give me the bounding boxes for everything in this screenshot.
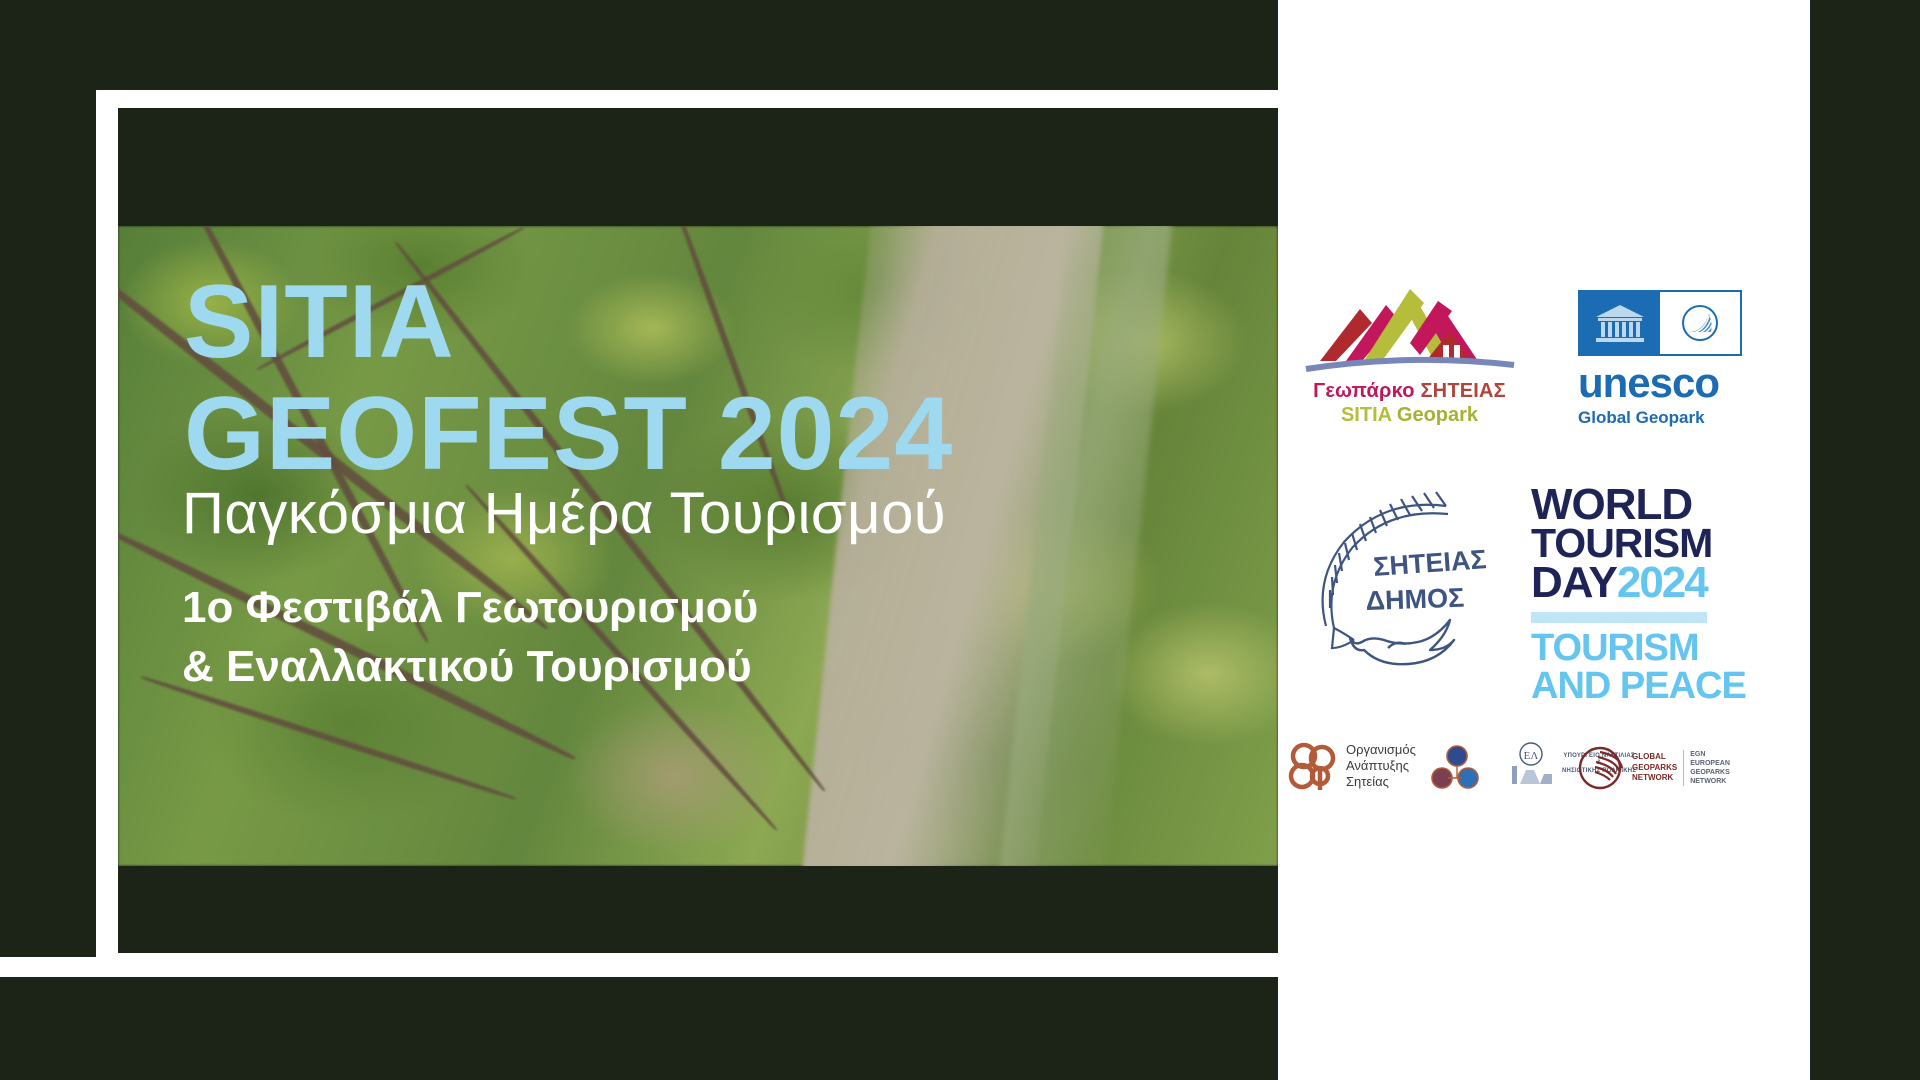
poster-stage: SITIA GEOFEST 2024 Παγκόσμια Ημέρα Τουρι… (0, 0, 1278, 1080)
stage-white-strip (0, 957, 1278, 977)
geopark-latin-word-2: Geopark (1397, 404, 1478, 426)
egn-line-1: EGN (1690, 750, 1730, 759)
egn-label: EGN EUROPEAN GEOPARKS NETWORK (1683, 750, 1730, 786)
unesco-subtitle: Global Geopark (1578, 408, 1768, 428)
wtd-year-text: 2024 (1617, 558, 1707, 607)
development-org-line-3: Σητείας (1346, 774, 1416, 790)
geopark-greek-label: Γεωπάρκο ΣΗΤΕΙΑΣ (1302, 380, 1517, 403)
ggn-label: GLOBAL GEOPARKS NETWORK (1632, 752, 1677, 783)
development-org-label: Οργανισμός Ανάπτυξης Σητείας (1346, 742, 1416, 790)
unesco-wordmark: unesco (1578, 362, 1768, 404)
wtd-day-text: DAY (1531, 558, 1617, 607)
poster-headline: SITIA GEOFEST 2024 (184, 266, 953, 491)
wtd-divider-bar (1531, 612, 1707, 623)
geopark-greek-word-2: ΣΗΤΕΙΑΣ (1420, 380, 1505, 402)
partner-three-circles-icon (1428, 744, 1486, 796)
unesco-emblem-box (1578, 290, 1742, 356)
municipality-palm-dolphin-icon: ΣΗΤΕΙΑΣ ΔΗΜΟΣ (1296, 480, 1486, 680)
municipality-text-line-1: ΣΗΤΕΙΑΣ (1372, 544, 1486, 582)
unesco-global-geopark-logo: unesco Global Geopark (1578, 290, 1768, 428)
unesco-temple-icon (1580, 292, 1660, 354)
sitia-development-organization-logo: Οργανισμός Ανάπτυξης Σητείας (1288, 740, 1416, 792)
ggn-line-2: GEOPARKS (1632, 763, 1677, 773)
development-org-circles-icon (1288, 740, 1340, 792)
municipality-text-line-2: ΔΗΜΟΣ (1365, 583, 1465, 616)
headline-line-1: SITIA (184, 266, 953, 378)
development-org-line-2: Ανάπτυξης (1346, 758, 1416, 774)
geopark-greek-word-1: Γεωπάρκο (1313, 380, 1415, 402)
headline-line-2: GEOFEST 2024 (184, 378, 953, 490)
sitia-geopark-logo: Γεωπάρκο ΣΗΤΕΙΑΣ SITIA Geopark (1302, 265, 1517, 430)
municipality-of-sitia-logo: ΣΗΤΕΙΑΣ ΔΗΜΟΣ (1296, 480, 1486, 690)
right-dark-band (1810, 0, 1920, 1080)
world-tourism-day-2024-logo: WORLD TOURISM DAY2024 TOURISM AND PEACE (1531, 485, 1746, 705)
development-org-line-1: Οργανισμός (1346, 742, 1416, 758)
blurb-line-2: & Εναλλακτικού Τουρισμού (182, 637, 758, 696)
partner-circles-logo (1428, 744, 1486, 796)
white-frame-mat: SITIA GEOFEST 2024 Παγκόσμια Ημέρα Τουρι… (96, 90, 1278, 970)
geopark-latin-word-1: SITIA (1341, 404, 1391, 426)
poster-subtitle: Παγκόσμια Ημέρα Τουρισμού (182, 480, 946, 547)
ggn-line-3: NETWORK (1632, 773, 1677, 783)
geopark-mountains-icon (1302, 265, 1517, 373)
egn-line-3: GEOPARKS (1690, 768, 1730, 777)
poster-inner-panel: SITIA GEOFEST 2024 Παγκόσμια Ημέρα Τουρι… (118, 108, 1278, 953)
egn-line-2: EUROPEAN (1690, 759, 1730, 768)
wtd-line-1: WORLD (1531, 485, 1746, 525)
poster-blurb: 1ο Φεστιβάλ Γεωτουρισμού & Εναλλακτικού … (182, 578, 758, 697)
blurb-line-1: 1ο Φεστιβάλ Γεωτουρισμού (182, 578, 758, 637)
svg-text:ΕΛ: ΕΛ (1524, 750, 1539, 762)
ggn-line-1: GLOBAL (1632, 752, 1677, 762)
wtd-line-4: TOURISM (1531, 629, 1746, 667)
wtd-line-5: AND PEACE (1531, 667, 1746, 705)
global-and-european-geoparks-network-logo: GLOBAL GEOPARKS NETWORK EGN EUROPEAN GEO… (1576, 744, 1730, 792)
partner-logos-strip: Οργανισμός Ανάπτυξης Σητείας ΕΛ (1278, 730, 1810, 816)
unesco-geopark-globe-icon (1660, 292, 1740, 354)
ministry-emblem-icon: ΕΛ (1500, 740, 1562, 788)
geoparks-network-swirl-icon (1576, 744, 1628, 792)
egn-line-4: NETWORK (1690, 777, 1730, 786)
geopark-latin-label: SITIA Geopark (1302, 404, 1517, 427)
sponsor-logo-panel: Γεωπάρκο ΣΗΤΕΙΑΣ SITIA Geopark (1278, 0, 1810, 1080)
wtd-line-3: DAY2024 (1531, 563, 1746, 603)
